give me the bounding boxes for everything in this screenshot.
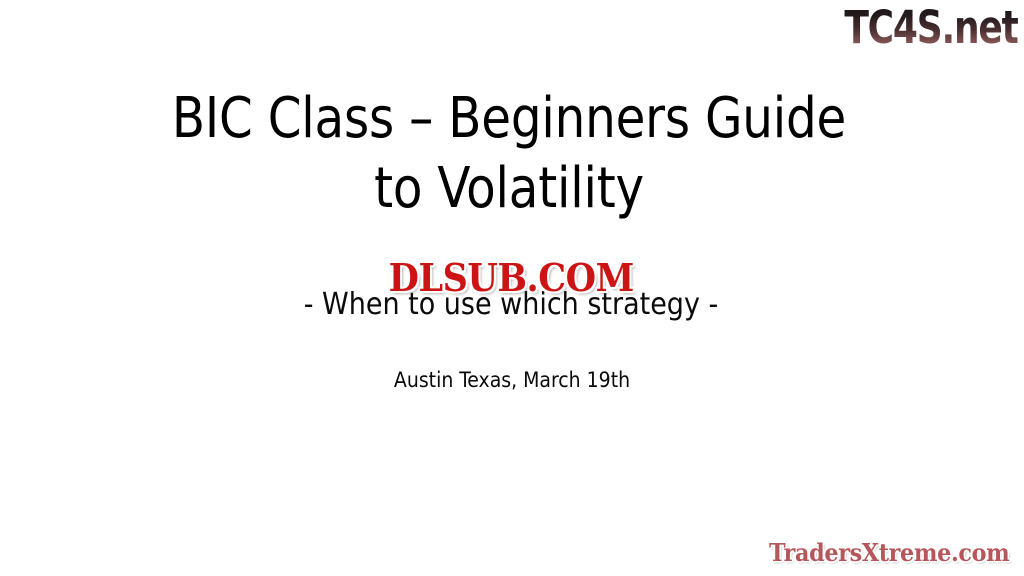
tc4s-logo: TC4S.net <box>828 0 1024 54</box>
slide-subtitle: - When to use which strategy - <box>0 288 1022 322</box>
slide-event-location-date: Austin Texas, March 19th <box>0 367 1024 393</box>
presentation-slide: TC4S.net BIC Class – Beginners Guide to … <box>0 0 1024 576</box>
tradersxtreme-watermark-text: TradersXtreme.com <box>769 541 1009 565</box>
slide-title: BIC Class – Beginners Guide to Volatilit… <box>0 84 1018 224</box>
tc4s-logo-text: TC4S.net <box>845 5 1018 50</box>
slide-title-line-2: to Volatility <box>20 154 997 224</box>
tradersxtreme-watermark: TradersXtreme.com <box>760 536 1018 570</box>
slide-title-line-1: BIC Class – Beginners Guide <box>20 84 997 154</box>
